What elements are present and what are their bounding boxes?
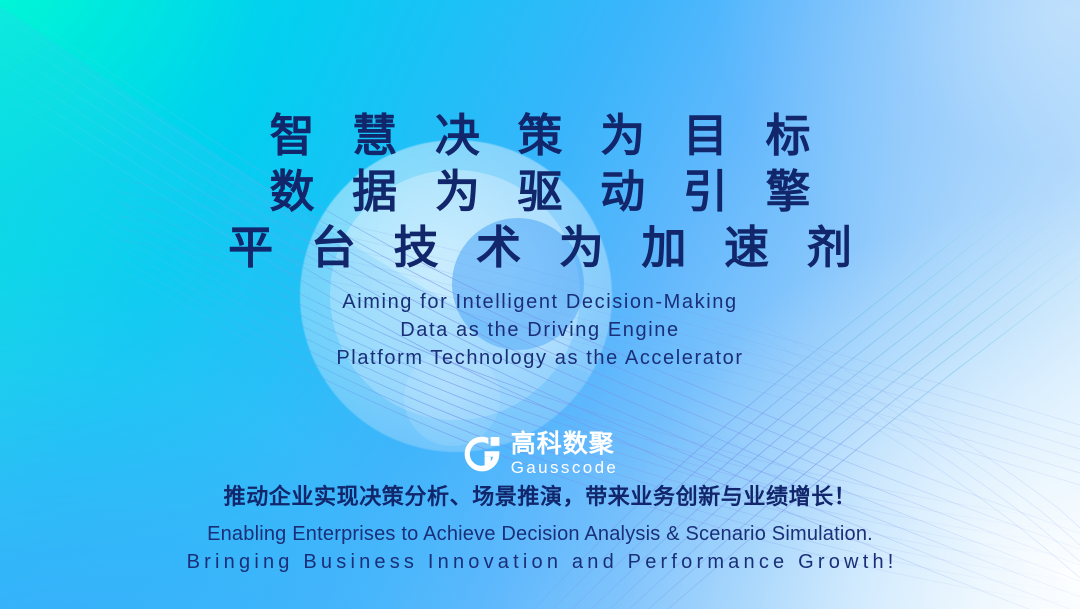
footer-block: 推动企业实现决策分析、场景推演，带来业务创新与业绩增长！ Enabling En… [0,482,1080,576]
footer-tagline-cn: 推动企业实现决策分析、场景推演，带来业务创新与业绩增长！ [0,482,1080,514]
subtitle-line-1: Aiming for Intelligent Decision-Making [0,288,1080,316]
brand-name-cn: 高科数聚 [511,430,619,457]
headline-block: 智 慧 决 策 为 目 标 数 据 为 驱 动 引 擎 平 台 技 术 为 加 … [0,108,1080,276]
promo-poster: 智 慧 决 策 为 目 标 数 据 为 驱 动 引 擎 平 台 技 术 为 加 … [0,0,1080,609]
subtitle-line-3: Platform Technology as the Accelerator [0,344,1080,372]
headline-line-2: 数 据 为 驱 动 引 擎 [0,164,1080,220]
brand-logo-text: 高科数聚 Gausscode [511,430,619,478]
gausscode-g-mark-icon [462,434,502,474]
brand-logo: 高科数聚 Gausscode [0,430,1080,478]
headline-line-1: 智 慧 决 策 为 目 标 [0,108,1080,164]
brand-name-en: Gausscode [511,458,619,478]
poster-content: 智 慧 决 策 为 目 标 数 据 为 驱 动 引 擎 平 台 技 术 为 加 … [0,0,1080,609]
footer-tagline-en-line1: Enabling Enterprises to Achieve Decision… [0,520,1080,548]
footer-tagline-en-line2: Bringing Business Innovation and Perform… [0,548,1080,576]
subtitle-line-2: Data as the Driving Engine [0,316,1080,344]
headline-line-3: 平 台 技 术 为 加 速 剂 [0,220,1080,276]
subtitle-block: Aiming for Intelligent Decision-Making D… [0,288,1080,372]
